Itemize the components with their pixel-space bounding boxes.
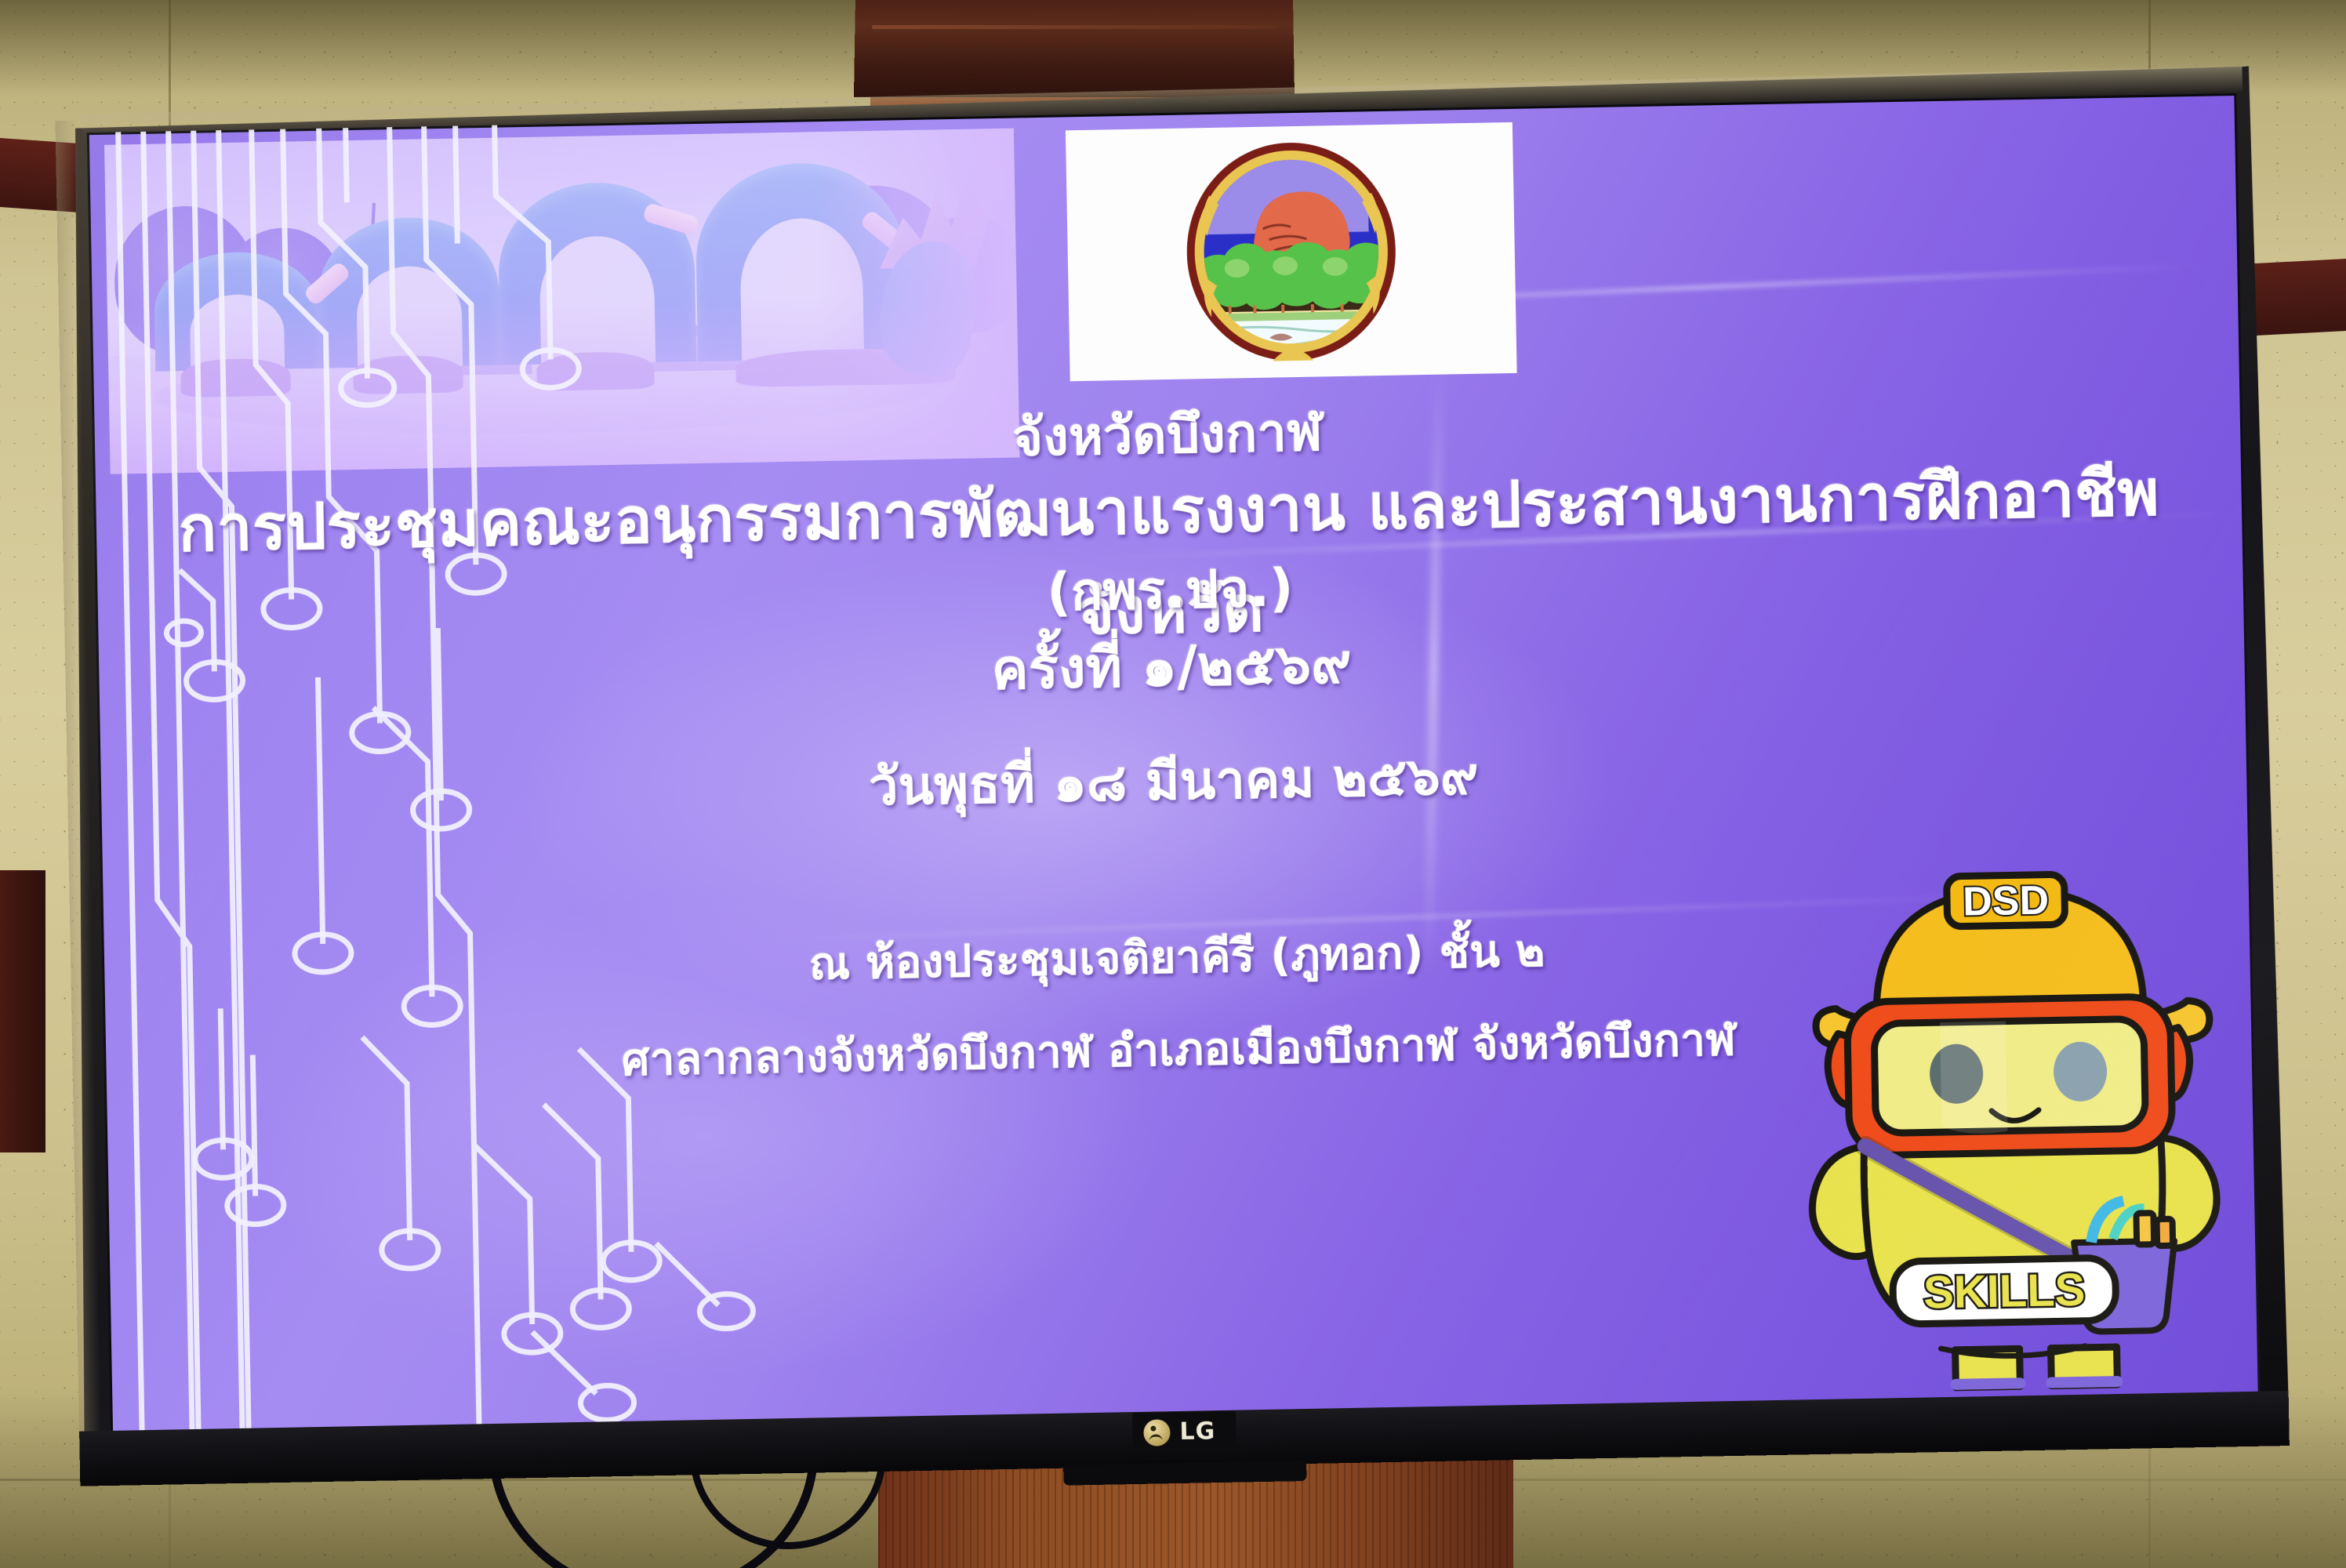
wood-cornice	[854, 0, 1295, 97]
mascot-helmet-label: DSD	[1963, 878, 2050, 925]
province-seal-icon	[1180, 136, 1402, 368]
television: จังหวัดบึงกาฬ การประชุมคณะอนุกรรมการพัฒน…	[55, 66, 2290, 1486]
lg-brand-label: LG	[1179, 1417, 1215, 1446]
dsd-skills-mascot: DSD	[1784, 810, 2234, 1414]
mascot-badge-label: SKILLS	[1923, 1265, 2086, 1319]
province-seal-card	[1066, 122, 1517, 381]
lg-logo-icon	[1143, 1419, 1171, 1446]
lg-brand-badge: LG	[1132, 1411, 1237, 1453]
wall-trim-left-lower	[0, 870, 45, 1152]
tv-screen: จังหวัดบึงกาฬ การประชุมคณะอนุกรรมการพัฒน…	[87, 93, 2261, 1434]
